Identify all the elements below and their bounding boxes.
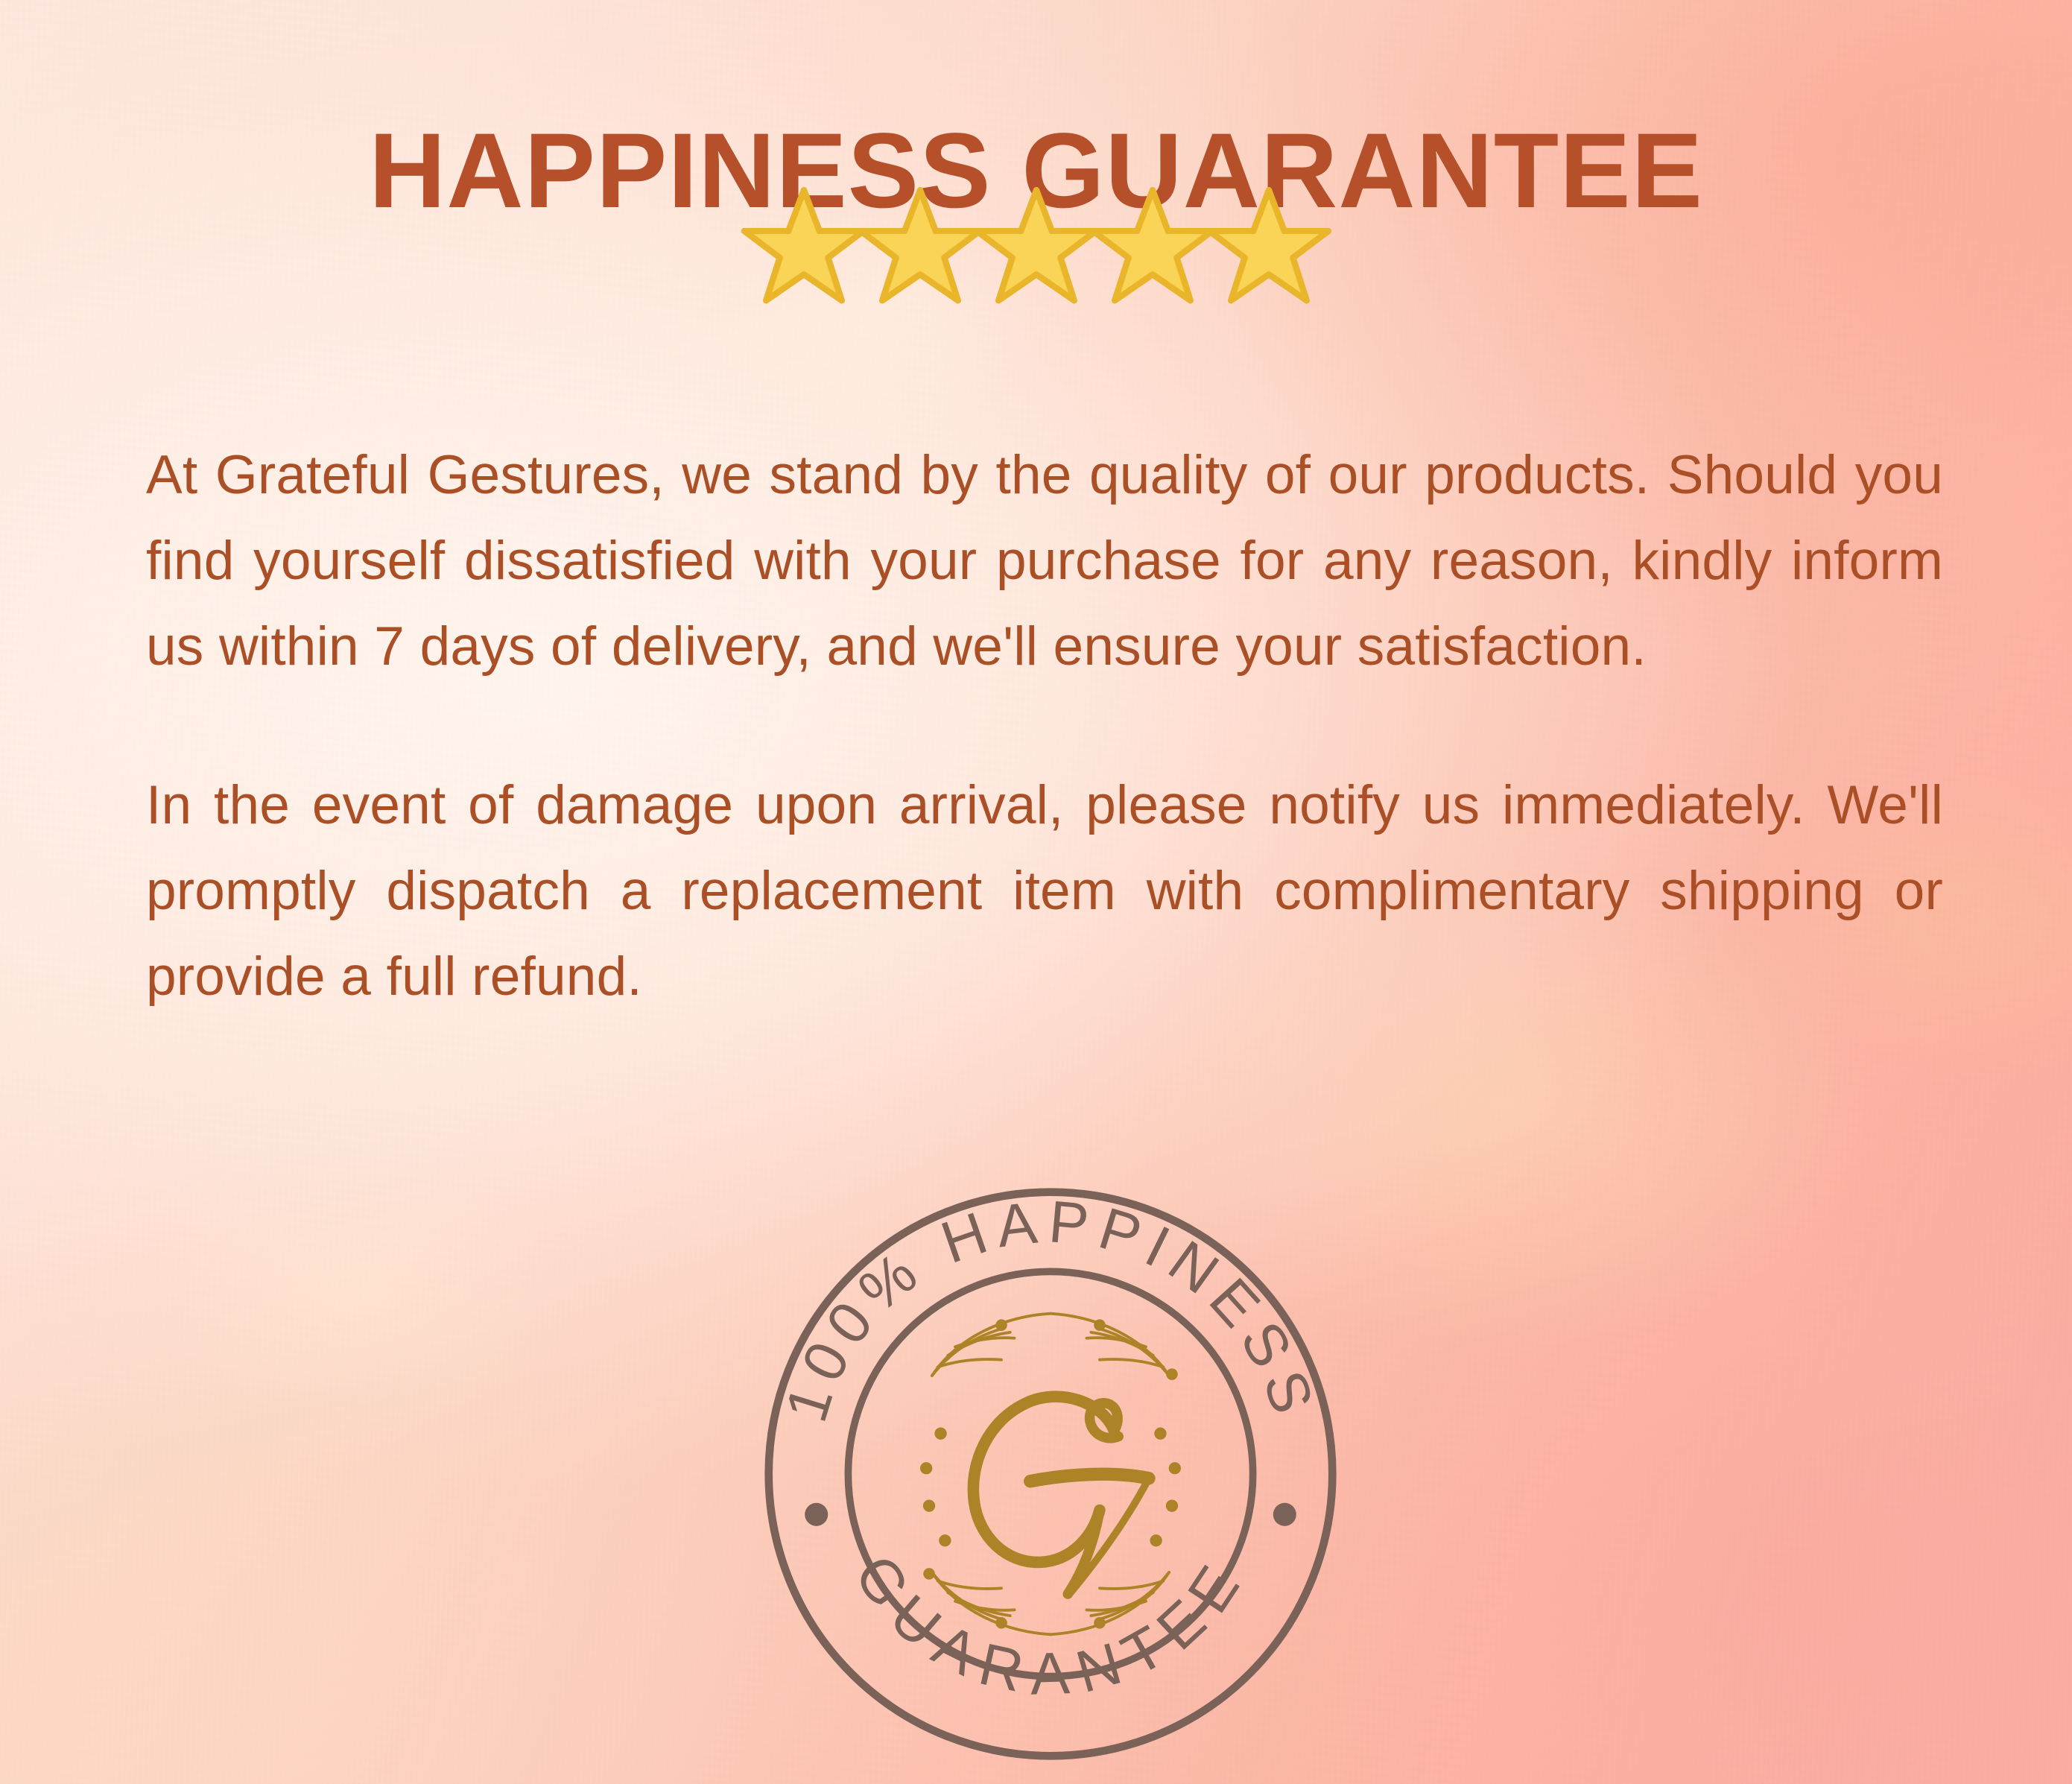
seal-graphic: 100% HAPPINESS GUARANTEE (761, 1185, 1340, 1763)
seal-monogram-group (920, 1314, 1181, 1635)
poster-content: HAPPINESS GUARANTEE (0, 0, 2072, 1784)
happiness-guarantee-seal: 100% HAPPINESS GUARANTEE (761, 1185, 1340, 1763)
poster-canvas: HAPPINESS GUARANTEE (0, 0, 2072, 1784)
star-icon (1206, 186, 1331, 306)
star-icon (1090, 186, 1215, 306)
seal-bottom-text: GUARANTEE (842, 1543, 1259, 1707)
guarantee-body: At Grateful Gestures, we stand by the qu… (146, 432, 1943, 1019)
seal-right-dot-icon (1273, 1503, 1296, 1526)
guarantee-paragraph-1: At Grateful Gestures, we stand by the qu… (146, 432, 1943, 689)
star-icon (741, 186, 866, 306)
guarantee-paragraph-2: In the event of damage upon arrival, ple… (146, 762, 1943, 1019)
star-rating (0, 186, 2072, 306)
star-icon (974, 186, 1099, 306)
laurel-sprig-top-icon (932, 1314, 1178, 1380)
monogram-g-icon (973, 1396, 1149, 1594)
seal-left-dot-icon (805, 1503, 828, 1526)
star-icon (858, 186, 983, 306)
